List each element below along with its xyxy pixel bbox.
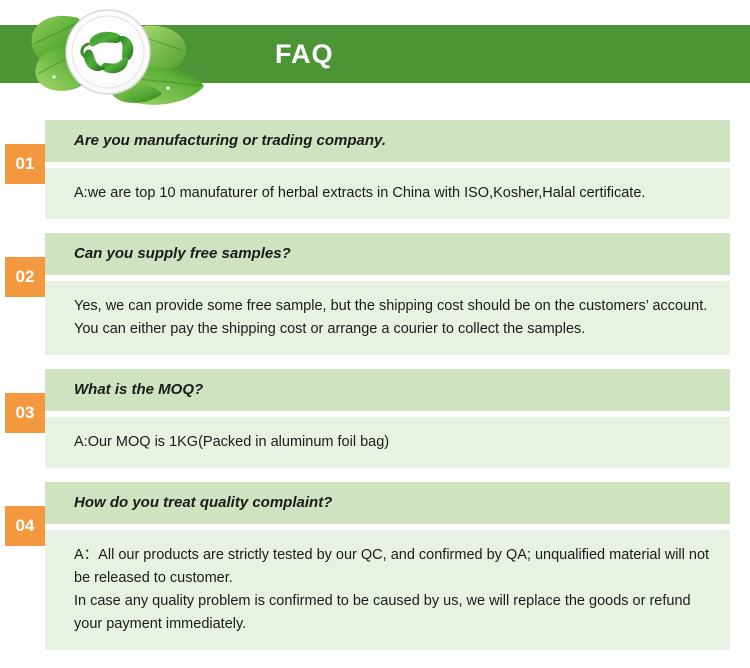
faq-item: 01 Are you manufacturing or trading comp… — [0, 120, 750, 219]
faq-number-badge: 02 — [5, 257, 45, 297]
faq-answer-line: A：All our products are strictly tested b… — [74, 544, 714, 590]
faq-list: 01 Are you manufacturing or trading comp… — [0, 120, 750, 650]
faq-number-badge: 04 — [5, 506, 45, 546]
faq-number-badge: 01 — [5, 144, 45, 184]
faq-body: How do you treat quality complaint? A：Al… — [45, 482, 730, 650]
faq-item: 04 How do you treat quality complaint? A… — [0, 482, 750, 650]
faq-answer-line: In case any quality problem is confirmed… — [74, 590, 714, 636]
faq-question[interactable]: Are you manufacturing or trading company… — [45, 120, 730, 162]
faq-answer: A：All our products are strictly tested b… — [45, 530, 730, 650]
faq-answer: Yes, we can provide some free sample, bu… — [45, 281, 730, 355]
faq-body: Are you manufacturing or trading company… — [45, 120, 730, 219]
faq-item: 03 What is the MOQ? A:Our MOQ is 1KG(Pac… — [0, 369, 750, 468]
faq-item: 02 Can you supply free samples? Yes, we … — [0, 233, 750, 355]
faq-answer-line: A:we are top 10 manufaturer of herbal ex… — [74, 182, 714, 205]
faq-question[interactable]: How do you treat quality complaint? — [45, 482, 730, 524]
faq-question[interactable]: Can you supply free samples? — [45, 233, 730, 275]
company-leaf-logo — [18, 0, 218, 110]
faq-answer-line: A:Our MOQ is 1KG(Packed in aluminum foil… — [74, 431, 714, 454]
page-title: FAQ — [275, 38, 334, 70]
faq-answer-line: Yes, we can provide some free sample, bu… — [74, 295, 714, 341]
faq-body: What is the MOQ? A:Our MOQ is 1KG(Packed… — [45, 369, 730, 468]
faq-question[interactable]: What is the MOQ? — [45, 369, 730, 411]
faq-answer: A:we are top 10 manufaturer of herbal ex… — [45, 168, 730, 219]
faq-number-badge: 03 — [5, 393, 45, 433]
logo-circle-badge — [66, 10, 150, 94]
faq-body: Can you supply free samples? Yes, we can… — [45, 233, 730, 355]
faq-answer: A:Our MOQ is 1KG(Packed in aluminum foil… — [45, 417, 730, 468]
page-header: FAQ — [0, 0, 750, 120]
